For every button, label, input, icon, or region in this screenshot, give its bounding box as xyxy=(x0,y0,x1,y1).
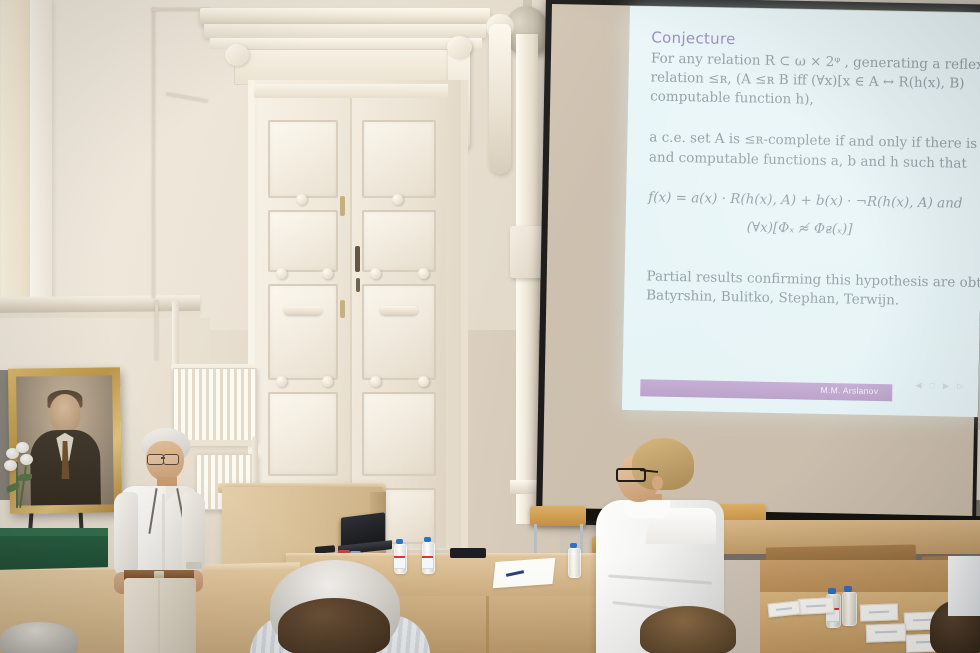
presenter-shirt-placket xyxy=(162,494,165,570)
door-lintel xyxy=(254,84,448,98)
door-handle[interactable] xyxy=(284,306,322,315)
door-leaf-left[interactable] xyxy=(258,98,352,548)
door-knob-ornament xyxy=(322,376,333,387)
door-panel xyxy=(268,392,338,476)
door-panel xyxy=(362,284,436,380)
door-knob-ornament xyxy=(370,268,381,279)
door-key-plate xyxy=(340,300,345,318)
door-panel xyxy=(362,210,436,272)
door-corbel-scroll-right xyxy=(447,36,472,58)
presenter-trouser-crease xyxy=(158,580,160,653)
flower-petal xyxy=(16,442,29,453)
door-panel xyxy=(268,210,338,272)
door-knob-ornament xyxy=(276,376,287,387)
door-hinge xyxy=(356,278,360,292)
audience-dark-hair xyxy=(278,598,390,653)
audience-brown-hair xyxy=(640,606,736,653)
conference-booklet[interactable] xyxy=(860,603,899,621)
door-knob-ornament xyxy=(370,376,381,387)
water-bottle[interactable] xyxy=(842,592,857,626)
door-handle[interactable] xyxy=(380,306,418,315)
standing-presenter xyxy=(100,428,210,653)
slide-title: Conjecture xyxy=(651,28,980,53)
bottle-label xyxy=(394,556,405,569)
attendee-collar xyxy=(624,500,670,518)
door-knob-ornament xyxy=(322,268,333,279)
projected-slide: Conjecture For any relation R ⊂ ω × 2ᵠ ,… xyxy=(622,6,980,417)
window-jamb xyxy=(30,0,52,310)
audience-white-hair xyxy=(0,622,78,653)
door-panel xyxy=(268,284,338,380)
bottle-label xyxy=(422,556,433,569)
presenter-glasses-bridge xyxy=(161,457,165,459)
water-bottle[interactable] xyxy=(568,548,581,578)
desk-panel-seam xyxy=(486,596,489,653)
door-cornice xyxy=(210,38,482,49)
audience-right-edge-shirt xyxy=(948,556,980,616)
window-light xyxy=(0,0,34,300)
door-hinge xyxy=(355,246,360,272)
door-cornice xyxy=(204,24,486,38)
attendee-hair xyxy=(632,438,694,490)
presenter-glasses-left-lens xyxy=(147,454,164,465)
door-knob-ornament xyxy=(418,376,429,387)
slide-navigation-icons[interactable]: ◀ □ ▶ ▷ xyxy=(915,381,966,391)
flower-petal xyxy=(4,460,17,471)
wall-pilaster xyxy=(516,34,538,524)
door-key-plate xyxy=(340,196,345,216)
door-leaf-right[interactable] xyxy=(352,98,446,548)
wall-conduit xyxy=(152,8,155,298)
flower-petal xyxy=(20,454,33,465)
wall-conduit xyxy=(155,300,158,360)
portrait-face xyxy=(49,394,81,433)
desk-dark-object xyxy=(450,548,486,558)
presenter-wristwatch xyxy=(186,562,202,569)
door-knob-ornament xyxy=(392,194,403,205)
presenter-glasses-right-lens xyxy=(163,454,179,465)
chair-backrest[interactable] xyxy=(530,506,586,526)
presenter-trousers xyxy=(124,578,196,653)
slide-footer-author: M.M. Arslanov xyxy=(820,385,878,396)
green-table-top-edge xyxy=(0,528,108,536)
door-knob-ornament xyxy=(276,268,287,279)
conference-booklet[interactable] xyxy=(866,623,907,642)
door-knob-ornament xyxy=(418,268,429,279)
radiator-pipe xyxy=(172,300,179,370)
door-knob-ornament xyxy=(296,194,307,205)
door-panel xyxy=(268,120,338,198)
door-cornice xyxy=(200,8,490,24)
attendee-ear xyxy=(652,476,663,490)
door-corbel-scroll-left xyxy=(225,44,249,66)
flower-arrangement xyxy=(0,440,34,510)
plaster-ornament xyxy=(489,24,511,174)
lecture-hall-photo: Conjecture For any relation R ⊂ ω × 2ᵠ ,… xyxy=(0,0,980,653)
wall-junction-box xyxy=(510,226,544,278)
door-panel xyxy=(362,392,436,476)
door-panel xyxy=(362,120,436,198)
presenter-left-arm xyxy=(114,492,138,576)
conference-booklet[interactable] xyxy=(798,597,835,615)
